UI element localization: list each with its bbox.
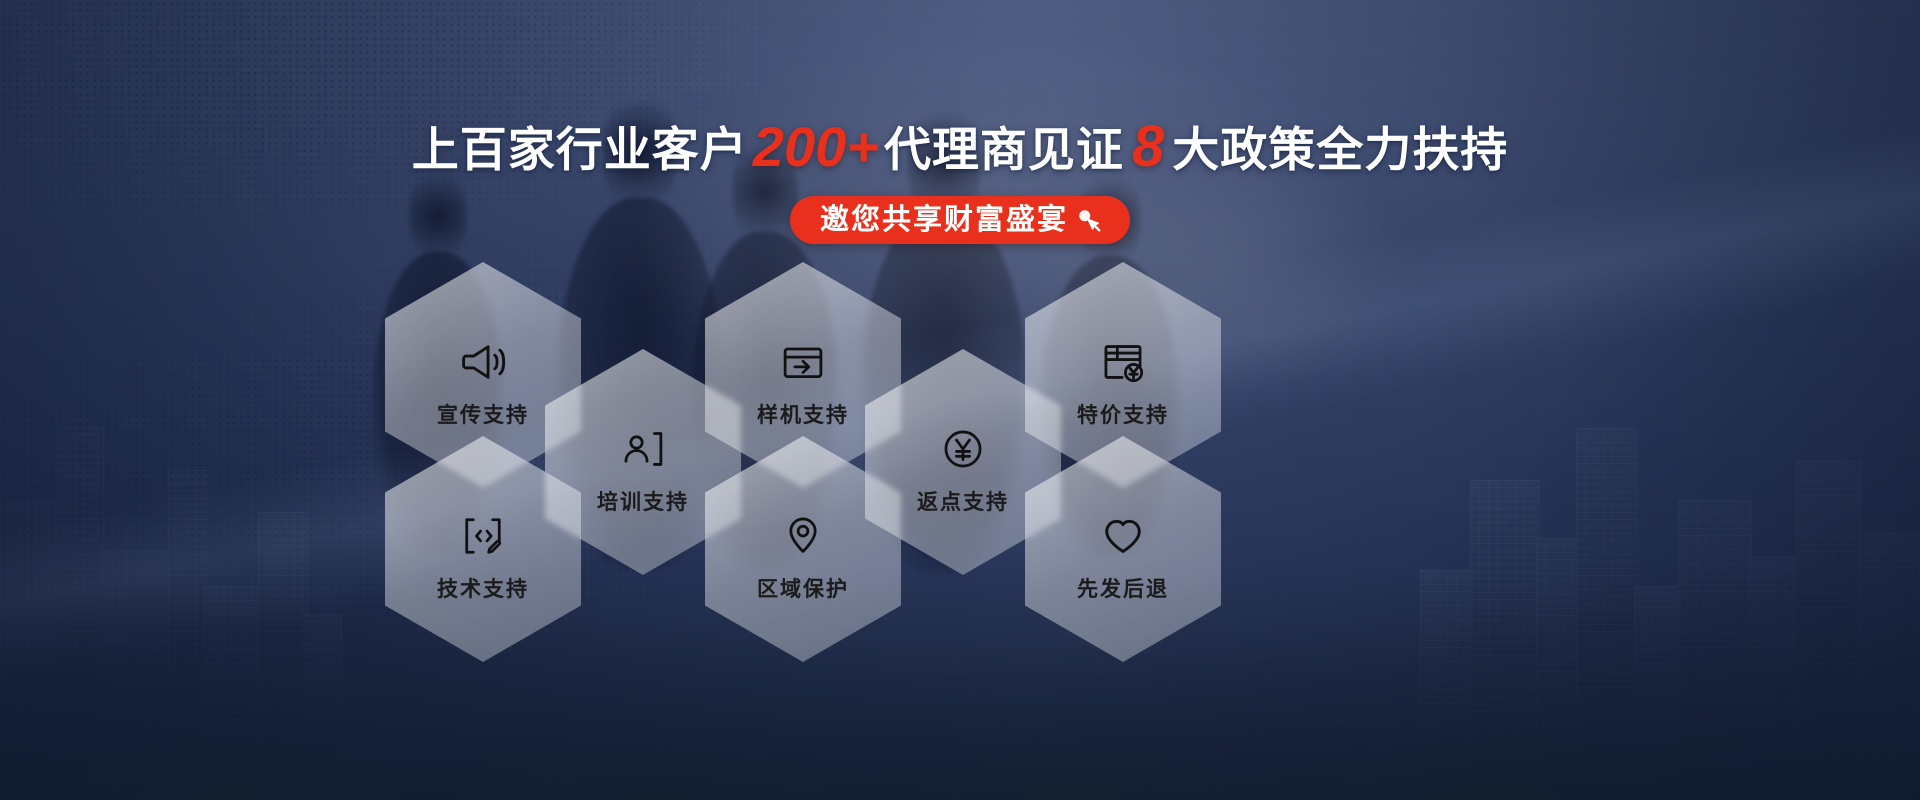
hex-label: 宣传支持 (437, 405, 529, 426)
hex-label: 区域保护 (757, 579, 849, 600)
hex-label: 样机支持 (757, 405, 849, 426)
box-arrow-in-icon (777, 331, 829, 393)
price-tag-yuan-icon (1097, 331, 1149, 393)
megaphone-icon (456, 331, 510, 393)
yuan-circle-icon (937, 418, 989, 480)
hex-label: 返点支持 (917, 492, 1009, 513)
hex-label: 技术支持 (437, 579, 529, 600)
hex-label: 特价支持 (1077, 405, 1169, 426)
hex-label: 先发后退 (1077, 579, 1169, 600)
hexagon-grid: 宣传支持 培训支持 样机支持 (0, 0, 1920, 800)
banner-stage: 上百家行业客户200+代理商见证8大政策全力扶持 邀您共享财富盛宴 宣传支持 (0, 0, 1920, 800)
heart-icon (1097, 505, 1149, 567)
id-card-person-icon (617, 418, 669, 480)
hex-label: 培训支持 (597, 492, 689, 513)
map-pin-icon (777, 505, 829, 567)
code-brackets-icon (457, 505, 509, 567)
